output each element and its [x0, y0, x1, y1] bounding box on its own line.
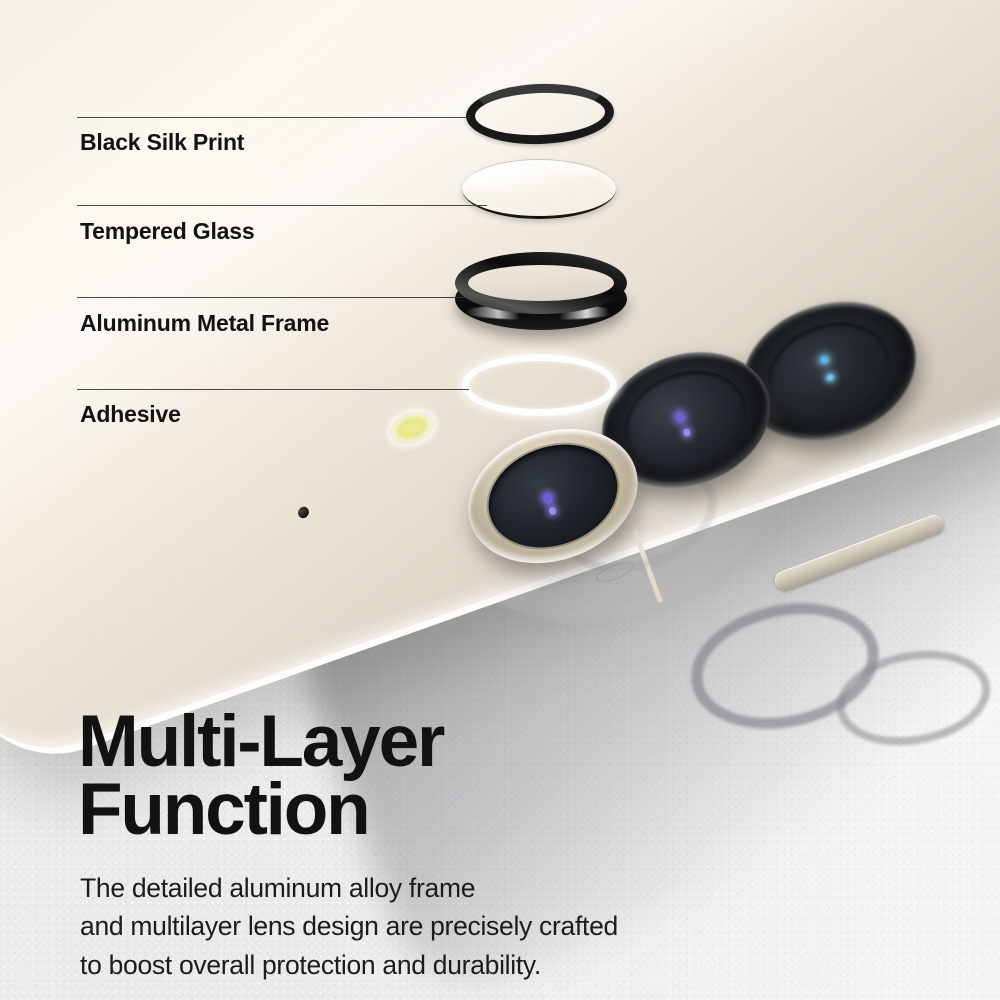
callout-leader-line	[77, 117, 469, 118]
product-feature-image: Black Silk Print Tempered Glass Aluminum…	[0, 0, 1000, 1000]
layer-adhesive	[462, 354, 617, 416]
callout-leader-line	[77, 389, 469, 390]
aluminum-frame-aperture	[468, 265, 614, 301]
callout-label: Aluminum Metal Frame	[80, 310, 329, 337]
layer-tempered-glass	[462, 159, 616, 219]
callout-label: Adhesive	[80, 401, 181, 428]
page-headline: Multi-Layer Function	[78, 708, 443, 844]
callout-leader-line	[77, 297, 463, 298]
callout-label: Black Silk Print	[80, 129, 244, 156]
layer-aluminum-metal-frame	[455, 252, 627, 334]
callout-label: Tempered Glass	[80, 218, 254, 245]
callout-leader-line	[77, 205, 487, 206]
side-button[interactable]	[772, 512, 945, 592]
page-description: The detailed aluminum alloy frame and mu…	[80, 869, 618, 984]
